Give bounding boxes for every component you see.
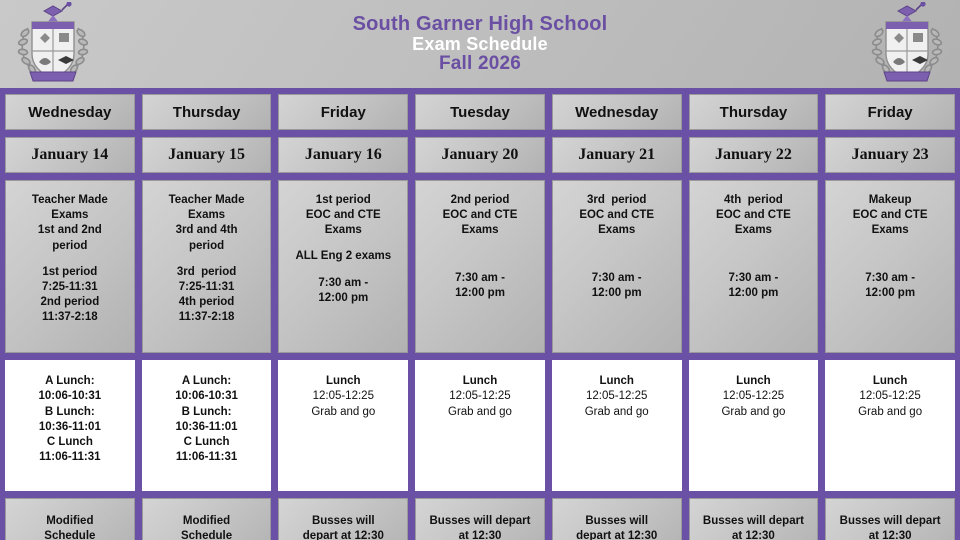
day-label: Wednesday	[28, 104, 111, 121]
day-header-cell: Thursday	[142, 94, 272, 130]
dismissal-text: Busses will departat 12:30	[840, 514, 941, 540]
lunch-cell: Lunch12:05-12:25Grab and go	[825, 360, 955, 491]
day-header-cell: Friday	[278, 94, 408, 130]
date-label: January 23	[852, 146, 929, 164]
dismissal-cell: ModifiedSchedule	[5, 498, 135, 540]
date-header-cell: January 16	[278, 137, 408, 173]
lunch-cell: Lunch12:05-12:25Grab and go	[689, 360, 819, 491]
day-header-cell: Tuesday	[415, 94, 545, 130]
day-label: Friday	[868, 104, 913, 121]
date-label: January 14	[31, 146, 108, 164]
dismissal-text: ModifiedSchedule	[181, 514, 232, 540]
dismissal-cell: Busses will departat 12:30	[825, 498, 955, 540]
date-header-cell: January 23	[825, 137, 955, 173]
day-label: Thursday	[720, 104, 788, 121]
exam-cell: 4th periodEOC and CTEExams7:30 am -12:00…	[689, 180, 819, 353]
lunch-heading: Lunch	[599, 374, 634, 389]
lunch-times: 12:05-12:25Grab and go	[585, 389, 649, 420]
dismissal-cell: Busses willdepart at 12:30	[552, 498, 682, 540]
dismissal-cell: Busses willdepart at 12:30	[278, 498, 408, 540]
lunch-cell: A Lunch:10:06-10:31B Lunch:10:36-11:01C …	[5, 360, 135, 491]
day-header-cell: Thursday	[689, 94, 819, 130]
exam-cell: 2nd periodEOC and CTEExams7:30 am -12:00…	[415, 180, 545, 353]
exam-cell: MakeupEOC and CTEExams7:30 am -12:00 pm	[825, 180, 955, 353]
title-block: South Garner High School Exam Schedule F…	[353, 14, 608, 74]
dismissal-text: Busses will departat 12:30	[430, 514, 531, 540]
day-label: Tuesday	[450, 104, 510, 121]
exam-text: 2nd periodEOC and CTEExams7:30 am -12:00…	[443, 193, 518, 302]
lunch-cell: Lunch12:05-12:25Grab and go	[415, 360, 545, 491]
day-label: Thursday	[173, 104, 241, 121]
lunch-cell: Lunch12:05-12:25Grab and go	[278, 360, 408, 491]
date-label: January 15	[168, 146, 245, 164]
date-label: January 16	[305, 146, 382, 164]
school-crest-logo-right	[868, 2, 946, 86]
dismissal-text: Busses willdepart at 12:30	[303, 514, 384, 540]
page-term: Fall 2026	[353, 54, 608, 74]
dismissal-text: ModifiedSchedule	[44, 514, 95, 540]
exam-cell: Teacher MadeExams3rd and 4thperiod3rd pe…	[142, 180, 272, 353]
day-header-cell: Friday	[825, 94, 955, 130]
date-header-cell: January 14	[5, 137, 135, 173]
exam-text: 1st periodEOC and CTEExamsALL Eng 2 exam…	[295, 193, 391, 306]
exam-schedule-table: Wednesday Thursday Friday Tuesday Wednes…	[0, 88, 960, 540]
page-header: South Garner High School Exam Schedule F…	[0, 0, 960, 88]
exam-text: Teacher MadeExams3rd and 4thperiod3rd pe…	[169, 193, 245, 325]
dismissal-cell: Busses will departat 12:30	[689, 498, 819, 540]
date-header-cell: January 22	[689, 137, 819, 173]
date-header-cell: January 21	[552, 137, 682, 173]
lunch-heading: Lunch	[736, 374, 771, 389]
lunch-heading: Lunch	[873, 374, 908, 389]
dismissal-text: Busses willdepart at 12:30	[576, 514, 657, 540]
school-crest-logo-left	[14, 2, 92, 86]
lunch-times: 10:06-10:31B Lunch:10:36-11:01C Lunch11:…	[39, 389, 102, 465]
lunch-times: 12:05-12:25Grab and go	[721, 389, 785, 420]
exam-text: Teacher MadeExams1st and 2ndperiod1st pe…	[32, 193, 108, 325]
lunch-heading: A Lunch:	[182, 374, 231, 389]
lunch-cell: Lunch12:05-12:25Grab and go	[552, 360, 682, 491]
lunch-heading: A Lunch:	[45, 374, 94, 389]
exam-text: MakeupEOC and CTEExams7:30 am -12:00 pm	[853, 193, 928, 302]
date-header-cell: January 15	[142, 137, 272, 173]
exam-cell: 1st periodEOC and CTEExamsALL Eng 2 exam…	[278, 180, 408, 353]
lunch-cell: A Lunch:10:06-10:31B Lunch:10:36-11:01C …	[142, 360, 272, 491]
date-label: January 20	[442, 146, 519, 164]
lunch-times: 12:05-12:25Grab and go	[448, 389, 512, 420]
dismissal-cell: Busses will departat 12:30	[415, 498, 545, 540]
lunch-times: 10:06-10:31B Lunch:10:36-11:01C Lunch11:…	[175, 389, 238, 465]
exam-text: 4th periodEOC and CTEExams7:30 am -12:00…	[716, 193, 791, 302]
day-label: Wednesday	[575, 104, 658, 121]
date-header-cell: January 20	[415, 137, 545, 173]
dismissal-cell: ModifiedSchedule	[142, 498, 272, 540]
exam-cell: Teacher MadeExams1st and 2ndperiod1st pe…	[5, 180, 135, 353]
day-header-cell: Wednesday	[552, 94, 682, 130]
day-label: Friday	[321, 104, 366, 121]
lunch-times: 12:05-12:25Grab and go	[311, 389, 375, 420]
date-label: January 22	[715, 146, 792, 164]
page-title: South Garner High School	[353, 14, 608, 35]
dismissal-text: Busses will departat 12:30	[703, 514, 804, 540]
page-subtitle: Exam Schedule	[353, 35, 608, 54]
lunch-heading: Lunch	[326, 374, 361, 389]
lunch-times: 12:05-12:25Grab and go	[858, 389, 922, 420]
lunch-heading: Lunch	[463, 374, 498, 389]
exam-cell: 3rd periodEOC and CTEExams7:30 am -12:00…	[552, 180, 682, 353]
exam-text: 3rd periodEOC and CTEExams7:30 am -12:00…	[579, 193, 654, 302]
day-header-cell: Wednesday	[5, 94, 135, 130]
date-label: January 21	[578, 146, 655, 164]
